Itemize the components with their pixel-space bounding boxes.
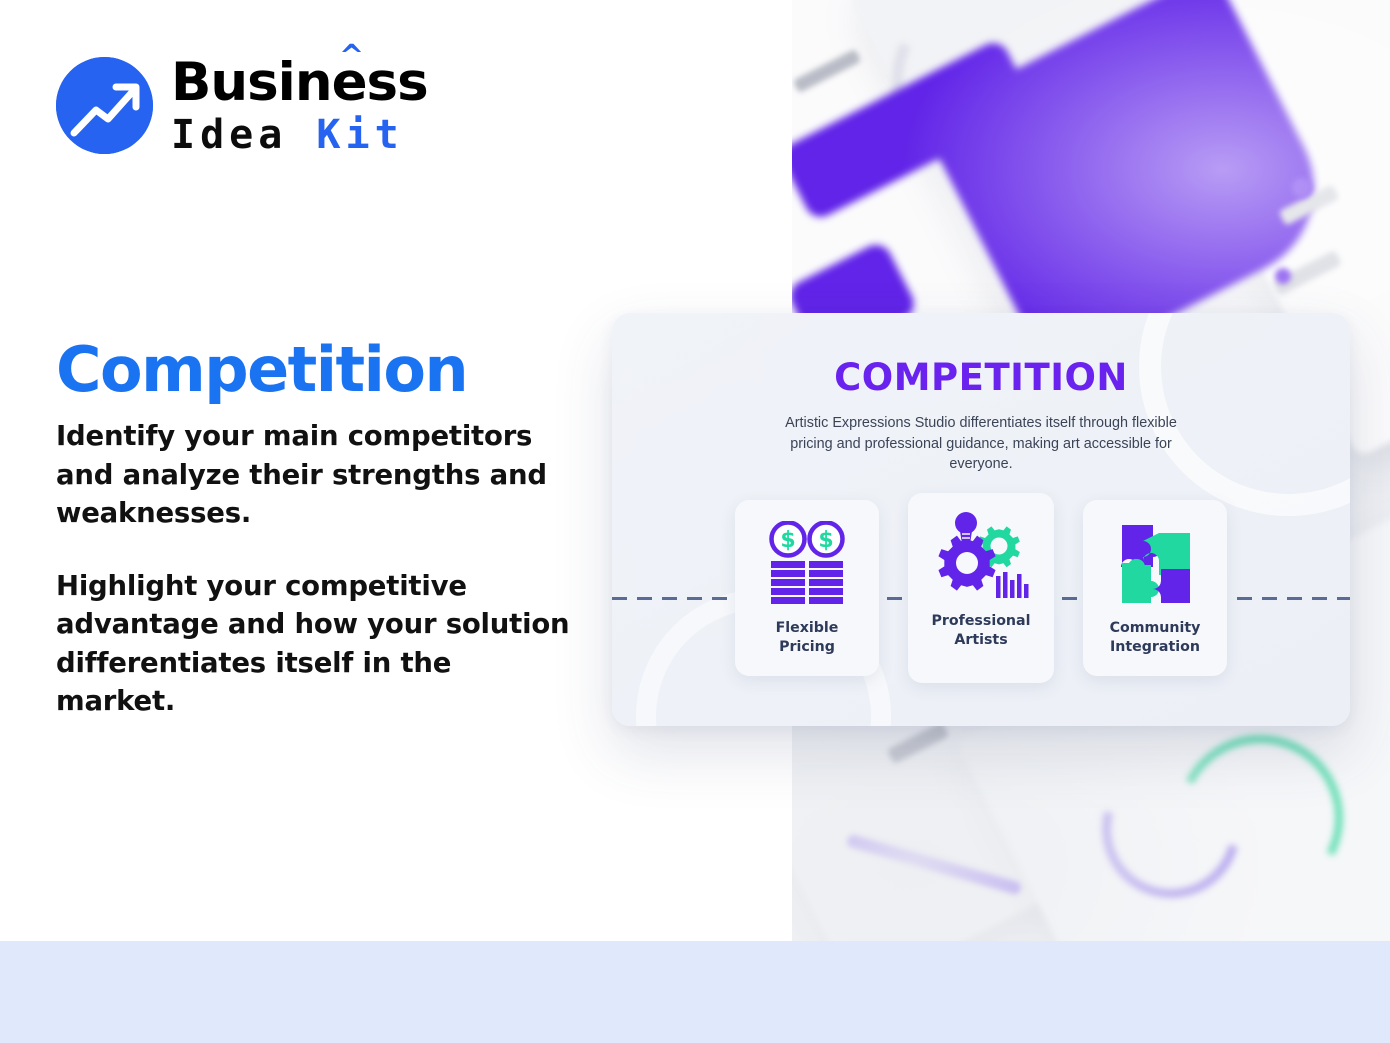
brand-name-kit: Kit xyxy=(316,112,403,158)
brand-name-line1-text: Business xyxy=(171,52,428,113)
bg-text-line xyxy=(793,49,862,93)
puzzle-pieces-icon xyxy=(1112,515,1198,613)
bg-ring-shape xyxy=(866,0,1099,198)
caret-accent-icon: ^ xyxy=(339,42,363,72)
bg-text-line xyxy=(1279,184,1340,225)
preview-card-subtitle: Artistic Expressions Studio differentiat… xyxy=(771,413,1191,475)
feature-tile-list: $ $ xyxy=(612,500,1350,683)
feature-label: Community Integration xyxy=(1110,619,1201,656)
bg-text-line xyxy=(887,722,950,764)
bg-dot-shape xyxy=(1275,268,1291,284)
brand-name-idea: Idea xyxy=(171,112,287,158)
page-title: Competition xyxy=(56,337,467,402)
bg-purple-block xyxy=(792,38,1037,223)
feature-label: Flexible Pricing xyxy=(776,619,839,656)
bg-text-line xyxy=(1272,250,1342,296)
slide-root: Business ^ Idea Kit Competition Identify… xyxy=(0,0,1390,1043)
feature-label: Professional Artists xyxy=(932,612,1031,649)
bottom-color-band xyxy=(0,941,1390,1043)
svg-text:$: $ xyxy=(818,528,833,553)
body-paragraph-1: Identify your main competitors and analy… xyxy=(56,417,576,533)
brand-logo: Business ^ Idea Kit xyxy=(56,56,428,155)
competition-preview-card[interactable]: COMPETITION Artistic Expressions Studio … xyxy=(612,313,1350,726)
bg-donut-chart-shape xyxy=(1077,735,1266,924)
money-coin-stacks-icon: $ $ xyxy=(765,515,849,613)
brand-name-line2: Idea Kit xyxy=(171,115,428,155)
brand-name-line1: Business ^ xyxy=(171,56,428,109)
growth-chart-circle-icon xyxy=(56,57,153,154)
svg-text:$: $ xyxy=(780,528,795,553)
bg-bar-shape xyxy=(846,833,1023,895)
feature-tile-flexible-pricing[interactable]: $ $ xyxy=(735,500,879,676)
body-paragraph-2: Highlight your competitive advantage and… xyxy=(56,567,576,721)
brand-wordmark: Business ^ Idea Kit xyxy=(171,56,428,155)
left-body-copy: Identify your main competitors and analy… xyxy=(56,417,576,721)
preview-card-title: COMPETITION xyxy=(612,356,1350,399)
bg-dot-shape xyxy=(1292,178,1312,198)
feature-tile-community-integration[interactable]: Community Integration xyxy=(1083,500,1227,676)
gears-lightbulb-chart-icon xyxy=(931,508,1031,606)
feature-tile-professional-artists[interactable]: Professional Artists xyxy=(908,493,1054,683)
bg-donut-chart-shape xyxy=(1155,713,1364,922)
